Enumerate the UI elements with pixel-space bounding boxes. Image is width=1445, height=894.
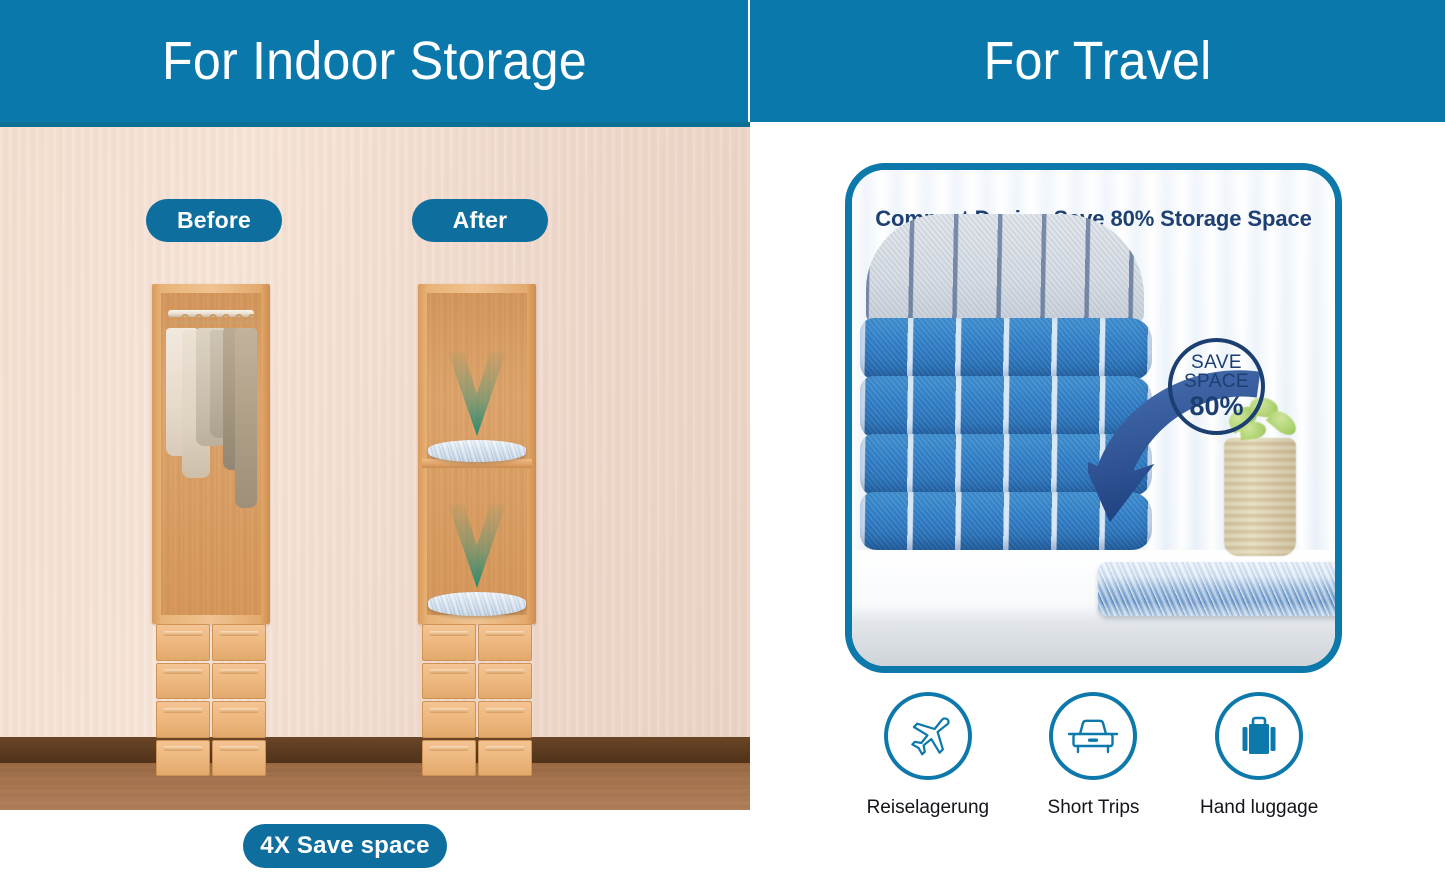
infographic-page: For Indoor Storage For Travel	[0, 0, 1445, 894]
drawer[interactable]	[422, 663, 476, 700]
usecase-label: Hand luggage	[1200, 797, 1318, 819]
room-floor	[0, 763, 750, 810]
badge-save-space-label: 4X Save space	[260, 832, 429, 860]
drawer[interactable]	[212, 663, 266, 700]
suitcase-icon	[1235, 712, 1283, 760]
vacuum-bag	[428, 592, 526, 616]
usecase-item-travel-storage[interactable]: Reiselagerung	[853, 692, 1003, 819]
wardrobe-before	[152, 284, 270, 779]
drawer[interactable]	[156, 740, 210, 777]
travel-photo-frame: Compact Design Save 80% Storage Space	[845, 163, 1342, 673]
compress-arrow-icon	[446, 350, 508, 444]
duvet-top-sheet	[866, 214, 1144, 324]
indoor-storage-scene	[0, 127, 750, 810]
header-title-travel: For Travel	[984, 34, 1212, 88]
car-icon	[1067, 714, 1119, 758]
drawer[interactable]	[478, 663, 532, 700]
badge-after: After	[412, 199, 548, 242]
hanging-garment	[235, 328, 257, 508]
drawer[interactable]	[212, 624, 266, 661]
badge-before: Before	[146, 199, 282, 242]
usecase-circle	[884, 692, 972, 780]
usecase-item-short-trips[interactable]: Short Trips	[1018, 692, 1168, 819]
drawer[interactable]	[478, 624, 532, 661]
compressed-vacuum-bag	[1098, 562, 1342, 616]
header-title-indoor: For Indoor Storage	[162, 34, 587, 88]
badge-after-label: After	[453, 207, 508, 234]
drawer[interactable]	[422, 701, 476, 738]
usecase-row: Reiselagerung Short Trips	[845, 692, 1342, 842]
usecase-circle	[1215, 692, 1303, 780]
drawer[interactable]	[478, 701, 532, 738]
drawer[interactable]	[212, 701, 266, 738]
save-space-badge: SAVE SPACE 80%	[1168, 338, 1265, 435]
usecase-item-hand-luggage[interactable]: Hand luggage	[1184, 692, 1334, 819]
usecase-label: Short Trips	[1048, 797, 1140, 819]
drawer[interactable]	[156, 701, 210, 738]
compress-arrow-icon	[446, 502, 508, 596]
room-wall	[0, 127, 750, 745]
wardrobe-after	[418, 284, 536, 779]
badge-before-label: Before	[177, 207, 251, 234]
drawer[interactable]	[422, 624, 476, 661]
badge-save-space: 4X Save space	[243, 824, 447, 868]
header-banner-travel: For Travel	[750, 0, 1445, 122]
vacuum-bag	[428, 440, 526, 462]
drawer[interactable]	[478, 740, 532, 777]
drawer-block-before	[156, 624, 266, 776]
drawer[interactable]	[422, 740, 476, 777]
usecase-circle	[1049, 692, 1137, 780]
room-baseboard	[0, 737, 750, 765]
drawer[interactable]	[156, 624, 210, 661]
save-space-line2: SPACE	[1184, 372, 1249, 391]
drawer[interactable]	[212, 740, 266, 777]
usecase-label: Reiselagerung	[867, 797, 990, 819]
drawer-block-after	[422, 624, 532, 776]
header-banner-indoor: For Indoor Storage	[0, 0, 748, 122]
airplane-icon	[903, 711, 953, 761]
save-space-line1: SAVE	[1191, 353, 1242, 372]
save-space-percent: 80%	[1189, 393, 1243, 420]
drawer[interactable]	[156, 663, 210, 700]
